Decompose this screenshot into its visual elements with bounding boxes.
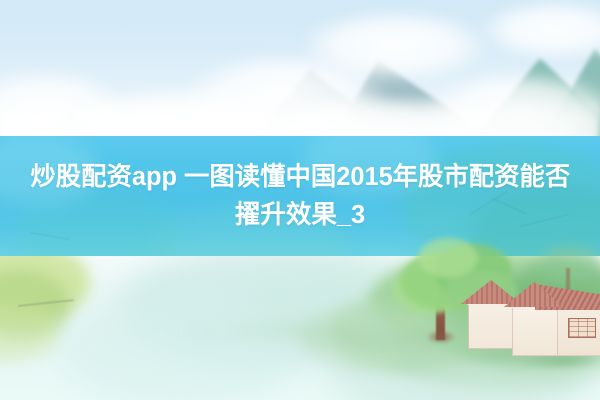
tree-canopy	[540, 246, 600, 280]
page-title: 炒股配资app 一图读懂中国2015年股市配资能否 擢升效果_3	[0, 136, 600, 256]
house-wall-back	[468, 302, 515, 349]
article-header-banner: 炒股配资app 一图读懂中国2015年股市配资能否 擢升效果_3	[0, 0, 600, 400]
page-title-line-2: 擢升效果_3	[235, 197, 365, 233]
tree-canopy	[418, 238, 478, 278]
cloud-icon	[300, 10, 490, 82]
page-title-line-1: 炒股配资app 一图读懂中国2015年股市配资能否	[30, 159, 570, 195]
house-window	[568, 318, 596, 338]
house-wall-front	[512, 306, 558, 356]
cottage-illustration	[468, 280, 600, 366]
tree-root	[426, 330, 456, 344]
